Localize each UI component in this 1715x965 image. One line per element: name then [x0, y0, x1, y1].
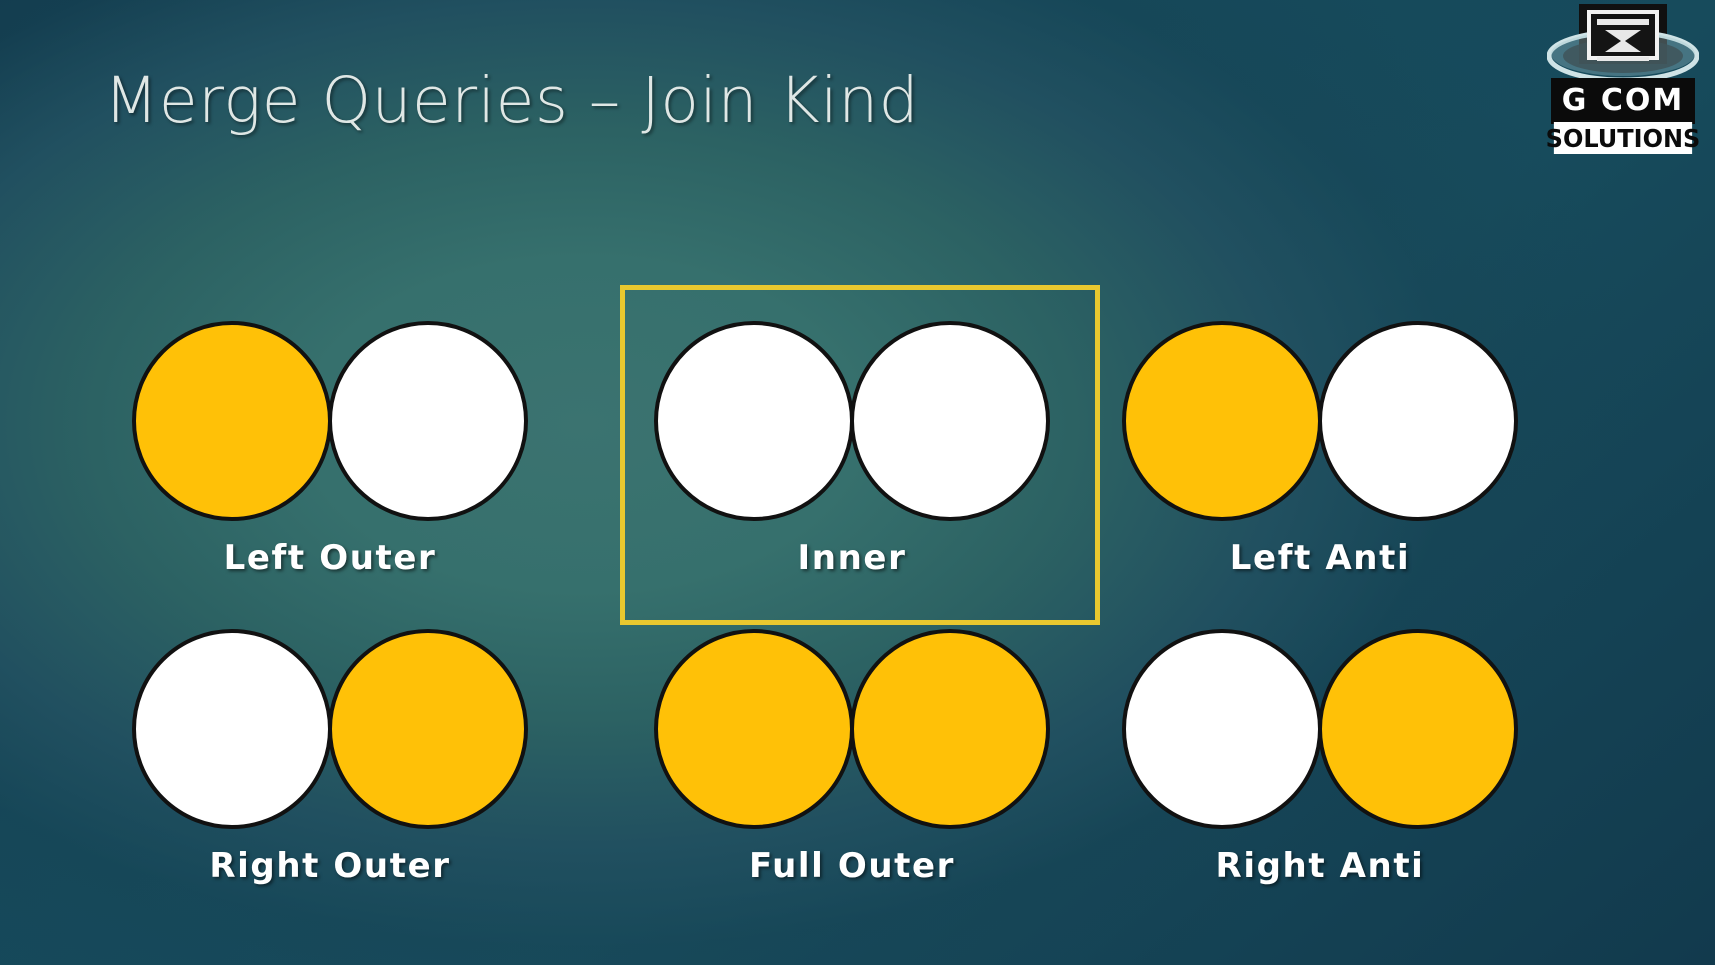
join-kind-label-right-anti: Right Anti [1085, 846, 1555, 886]
page-title: Merge Queries – Join Kind [104, 64, 919, 137]
join-kind-label-left-outer: Left Outer [95, 538, 565, 578]
join-kind-cell-full-outer[interactable]: Full Outer [617, 608, 1087, 928]
join-kind-cell-right-outer[interactable]: Right Outer [95, 608, 565, 928]
join-kind-cell-inner[interactable]: Inner [617, 300, 1087, 620]
venn-diagram-left-outer [95, 300, 565, 545]
gcom-solutions-logo: G COM SOLUTIONS [1547, 2, 1699, 160]
join-kind-cell-left-anti[interactable]: Left Anti [1085, 300, 1555, 620]
join-kind-label-inner: Inner [617, 538, 1087, 578]
join-kind-cell-left-outer[interactable]: Left Outer [95, 300, 565, 620]
venn-diagram-inner [617, 300, 1087, 545]
join-kind-label-right-outer: Right Outer [95, 846, 565, 886]
venn-diagram-right-anti [1085, 608, 1555, 853]
slide-canvas: Merge Queries – Join Kind G COM SOLUTION… [0, 0, 1715, 965]
logo-gcom-text: G COM [1551, 78, 1695, 124]
join-kind-label-full-outer: Full Outer [617, 846, 1087, 886]
venn-diagram-full-outer [617, 608, 1087, 853]
join-kind-label-left-anti: Left Anti [1085, 538, 1555, 578]
venn-diagram-left-anti [1085, 300, 1555, 545]
monitor-in-ellipse-icon [1547, 2, 1699, 90]
logo-solutions-text: SOLUTIONS [1554, 122, 1692, 154]
venn-diagram-right-outer [95, 608, 565, 853]
join-kind-cell-right-anti[interactable]: Right Anti [1085, 608, 1555, 928]
